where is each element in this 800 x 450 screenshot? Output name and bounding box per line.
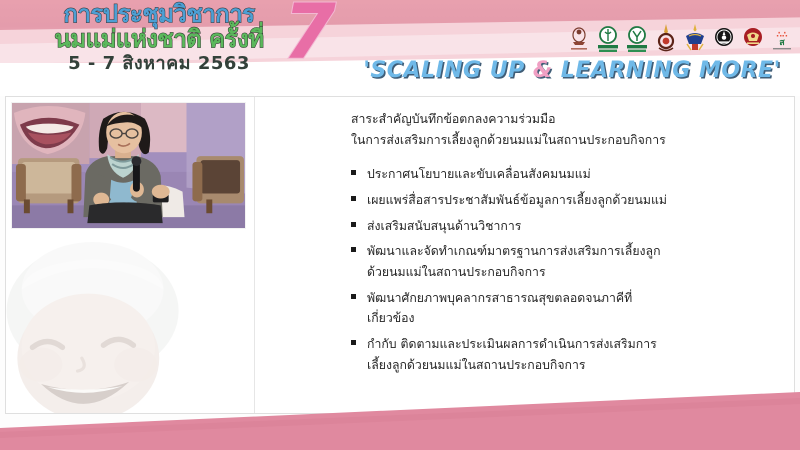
square-bullet-icon xyxy=(351,222,356,227)
presentation-slide: การประชุมวิชาการ นมแม่แห่งชาติ ครั้งที่ … xyxy=(0,0,800,450)
square-bullet-icon xyxy=(351,196,356,201)
lead-line-2: ในการส่งเสริมการเลี้ยงลูกด้วยนมแม่ในสถาน… xyxy=(351,130,771,151)
bullet-item: กำกับ ติดตามและประเมินผลการดำเนินการส่งเ… xyxy=(351,334,771,375)
bullet-line-1: พัฒนาและจัดทำเกณฑ์มาตรฐานการส่งเสริมการเ… xyxy=(367,244,661,258)
red-crest-seal-logo xyxy=(741,24,765,54)
content-divider xyxy=(254,97,255,414)
conference-tagline: 'SCALING UP & LEARNING MORE' xyxy=(352,58,792,83)
bullet-line-1: พัฒนาศักยภาพบุคลากรสาธารณสุขตลอดจนภาคีที… xyxy=(367,291,632,305)
speaker-video-inset[interactable] xyxy=(11,102,246,229)
bullet-item: เผยแพร่สื่อสารประชาสัมพันธ์ข้อมูลการเลี้… xyxy=(351,190,771,211)
slide-content-frame: สาระสำคัญบันทึกข้อตกลงความร่วมมือ ในการส… xyxy=(5,96,795,414)
slide-header-banner: การประชุมวิชาการ นมแม่แห่งชาติ ครั้งที่ … xyxy=(0,0,800,96)
bullet-line-1: ประกาศนโยบายและขับเคลื่อนสังคมนมแม่ xyxy=(367,167,591,181)
department-health-logo xyxy=(625,24,649,54)
conference-title-line2: นมแม่แห่งชาติ ครั้งที่ xyxy=(14,27,304,51)
sss-thaihealth-logo: ∴∴ ส xyxy=(770,24,794,54)
svg-text:ส: ส xyxy=(779,38,785,48)
conference-date: 5 - 7 สิงหาคม 2563 xyxy=(14,55,304,73)
sponsor-logo-row: ∴∴ ส xyxy=(567,24,794,54)
bullet-item: ประกาศนโยบายและขับเคลื่อนสังคมนมแม่ xyxy=(351,164,771,185)
bullet-item: พัฒนาและจัดทำเกณฑ์มาตรฐานการส่งเสริมการเ… xyxy=(351,241,771,282)
bullet-line-1: ส่งเสริมสนับสนุนด้านวิชาการ xyxy=(367,219,521,233)
agreement-bullet-list: ประกาศนโยบายและขับเคลื่อนสังคมนมแม่ เผยแ… xyxy=(351,164,771,375)
black-circle-seal-logo xyxy=(712,24,736,54)
thai-crown-emblem-logo xyxy=(654,24,678,54)
tagline-ampersand: & xyxy=(533,58,553,83)
slide-text-content: สาระสำคัญบันทึกข้อตกลงความร่วมมือ ในการส… xyxy=(351,109,771,380)
royal-crest-logo xyxy=(567,24,591,54)
lead-line-1: สาระสำคัญบันทึกข้อตกลงความร่วมมือ xyxy=(351,109,771,130)
bullet-line-1: เผยแพร่สื่อสารประชาสัมพันธ์ข้อมูลการเลี้… xyxy=(367,193,667,207)
ministry-public-health-logo xyxy=(596,24,620,54)
conference-title-block: การประชุมวิชาการ นมแม่แห่งชาติ ครั้งที่ … xyxy=(14,2,304,73)
bullet-line-2: เลี้ยงลูกด้วยนมแม่ในสถานประกอบกิจการ xyxy=(367,355,771,376)
bullet-line-1: กำกับ ติดตามและประเมินผลการดำเนินการส่งเ… xyxy=(367,337,657,351)
bullet-line-2: ด้วยนมแม่ในสถานประกอบกิจการ xyxy=(367,262,771,283)
square-bullet-icon xyxy=(351,294,356,299)
tagline-prefix: 'SCALING UP xyxy=(363,58,533,83)
bullet-item: พัฒนาศักยภาพบุคลากรสาธารณสุขตลอดจนภาคีที… xyxy=(351,288,771,329)
conference-title-line1: การประชุมวิชาการ xyxy=(14,2,304,26)
tagline-suffix: LEARNING MORE' xyxy=(553,58,781,83)
edition-number: 7 xyxy=(283,0,336,70)
speaker-video-frame xyxy=(12,103,245,228)
square-bullet-icon xyxy=(351,170,356,175)
square-bullet-icon xyxy=(351,247,356,252)
bullet-item: ส่งเสริมสนับสนุนด้านวิชาการ xyxy=(351,216,771,237)
square-bullet-icon xyxy=(351,340,356,345)
smiling-child-watermark xyxy=(5,227,213,414)
bullet-line-2: เกี่ยวข้อง xyxy=(367,308,771,329)
garuda-emblem-logo xyxy=(683,24,707,54)
